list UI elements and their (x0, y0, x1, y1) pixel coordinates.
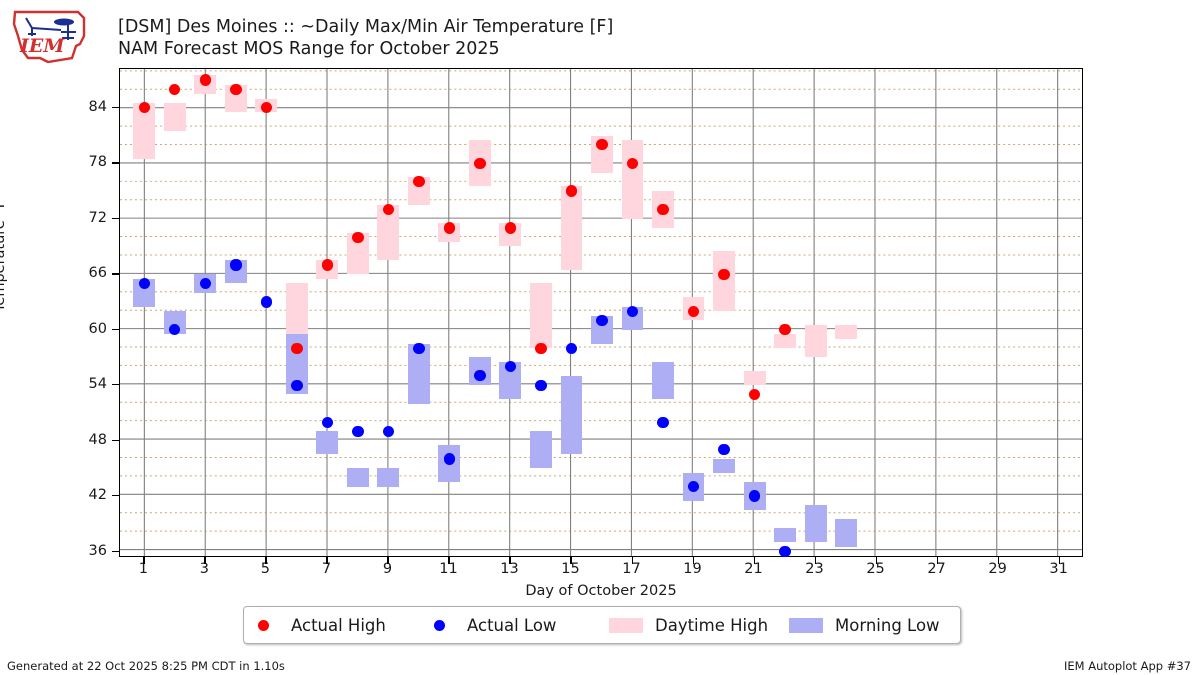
x-tick-mark (693, 557, 694, 564)
actual-low-dot (291, 380, 302, 391)
chart-title-line1: [DSM] Des Moines :: ~Daily Max/Min Air T… (118, 17, 613, 37)
morning-low-band (774, 528, 796, 542)
x-tick-mark (937, 557, 938, 564)
x-tick-mark (632, 557, 633, 564)
morning-low-band (652, 362, 674, 399)
legend-label: Actual Low (467, 616, 556, 635)
actual-high-dot (444, 222, 455, 233)
legend-patch-swatch (609, 618, 643, 633)
actual-high-dot (535, 343, 546, 354)
actual-high-dot (749, 389, 760, 400)
x-tick-mark (815, 557, 816, 564)
x-tick-mark (204, 557, 205, 564)
legend-dot-swatch (258, 620, 269, 631)
actual-high-dot (566, 185, 577, 196)
iem-logo: IEM (6, 6, 92, 68)
morning-low-band (530, 431, 552, 468)
y-tick-label: 66 (47, 265, 107, 281)
x-axis-label: Day of October 2025 (525, 583, 676, 599)
daytime-high-band (774, 334, 796, 348)
legend-item-actual-low[interactable]: Actual Low (434, 616, 556, 635)
chart-page: IEM [DSM] Des Moines :: ~Daily Max/Min A… (0, 0, 1200, 675)
actual-low-dot (596, 315, 607, 326)
y-tick-mark (112, 218, 119, 219)
actual-low-dot (352, 426, 363, 437)
actual-low-dot (261, 296, 272, 307)
actual-low-dot (535, 380, 546, 391)
morning-low-band (316, 431, 338, 454)
actual-high-dot (657, 204, 668, 215)
legend-label: Morning Low (835, 616, 940, 635)
actual-low-dot (200, 278, 211, 289)
actual-high-dot (200, 74, 211, 85)
y-tick-label: 84 (47, 99, 107, 115)
actual-low-dot (139, 278, 150, 289)
actual-low-dot (779, 546, 790, 557)
actual-high-dot (383, 204, 394, 215)
y-tick-label: 36 (47, 543, 107, 559)
daytime-high-band (713, 251, 735, 311)
daytime-high-band (805, 325, 827, 357)
y-tick-label: 42 (47, 487, 107, 503)
legend-label: Actual High (291, 616, 386, 635)
morning-low-band (377, 468, 399, 486)
footer-generated-text: Generated at 22 Oct 2025 8:25 PM CDT in … (7, 659, 285, 673)
legend-patch-swatch (789, 618, 823, 633)
y-tick-label: 54 (47, 376, 107, 392)
y-tick-mark (112, 495, 119, 496)
plot-area (119, 68, 1083, 557)
daytime-high-band (561, 186, 583, 269)
x-tick-mark (387, 557, 388, 564)
x-tick-mark (876, 557, 877, 564)
actual-low-dot (657, 417, 668, 428)
morning-low-band (713, 459, 735, 473)
morning-low-band (561, 376, 583, 455)
morning-low-band (347, 468, 369, 486)
actual-high-dot (688, 306, 699, 317)
actual-low-dot (718, 444, 729, 455)
y-tick-mark (112, 162, 119, 163)
y-axis-label: Temperature °F (0, 200, 8, 312)
y-tick-mark (112, 440, 119, 441)
actual-low-dot (627, 306, 638, 317)
actual-high-dot (779, 324, 790, 335)
x-tick-mark (998, 557, 999, 564)
y-tick-mark (112, 384, 119, 385)
svg-text:IEM: IEM (19, 35, 65, 57)
y-tick-mark (112, 551, 119, 552)
x-tick-mark (448, 557, 449, 564)
legend-label: Daytime High (655, 616, 768, 635)
actual-low-dot (383, 426, 394, 437)
morning-low-band (805, 505, 827, 542)
actual-high-dot (291, 343, 302, 354)
x-tick-mark (326, 557, 327, 564)
actual-low-dot (474, 370, 485, 381)
x-tick-mark (265, 557, 266, 564)
actual-low-dot (230, 259, 241, 270)
y-tick-mark (112, 273, 119, 274)
x-tick-mark (570, 557, 571, 564)
actual-high-dot (627, 158, 638, 169)
actual-high-dot (322, 259, 333, 270)
x-tick-mark (509, 557, 510, 564)
actual-low-dot (566, 343, 577, 354)
y-tick-label: 78 (47, 154, 107, 170)
x-tick-mark (1059, 557, 1060, 564)
daytime-high-band (164, 103, 186, 131)
actual-high-dot (352, 232, 363, 243)
legend-dot-swatch (434, 620, 445, 631)
iem-logo-icon: IEM (6, 6, 92, 68)
actual-high-dot (474, 158, 485, 169)
actual-high-dot (718, 269, 729, 280)
chart-title-line2: NAM Forecast MOS Range for October 2025 (118, 39, 500, 59)
y-tick-label: 72 (47, 210, 107, 226)
legend-item-morning-low[interactable]: Morning Low (789, 616, 940, 635)
y-tick-mark (112, 329, 119, 330)
morning-low-band (835, 519, 857, 547)
daytime-high-band (835, 325, 857, 339)
actual-high-dot (596, 139, 607, 150)
actual-low-dot (444, 453, 455, 464)
actual-low-dot (413, 343, 424, 354)
actual-low-dot (749, 490, 760, 501)
daytime-high-band (744, 371, 766, 385)
actual-low-dot (322, 417, 333, 428)
y-tick-mark (112, 107, 119, 108)
chart-legend: Actual HighActual LowDaytime HighMorning… (243, 606, 961, 644)
y-tick-label: 60 (47, 321, 107, 337)
y-tick-label: 48 (47, 432, 107, 448)
legend-item-daytime-high[interactable]: Daytime High (609, 616, 768, 635)
actual-high-dot (413, 176, 424, 187)
daytime-high-band (530, 283, 552, 348)
actual-high-dot (230, 84, 241, 95)
daytime-high-band (622, 140, 644, 219)
x-tick-mark (143, 557, 144, 564)
x-tick-mark (754, 557, 755, 564)
footer-app-text: IEM Autoplot App #37 (1064, 659, 1191, 673)
actual-high-dot (505, 222, 516, 233)
legend-item-actual-high[interactable]: Actual High (258, 616, 386, 635)
